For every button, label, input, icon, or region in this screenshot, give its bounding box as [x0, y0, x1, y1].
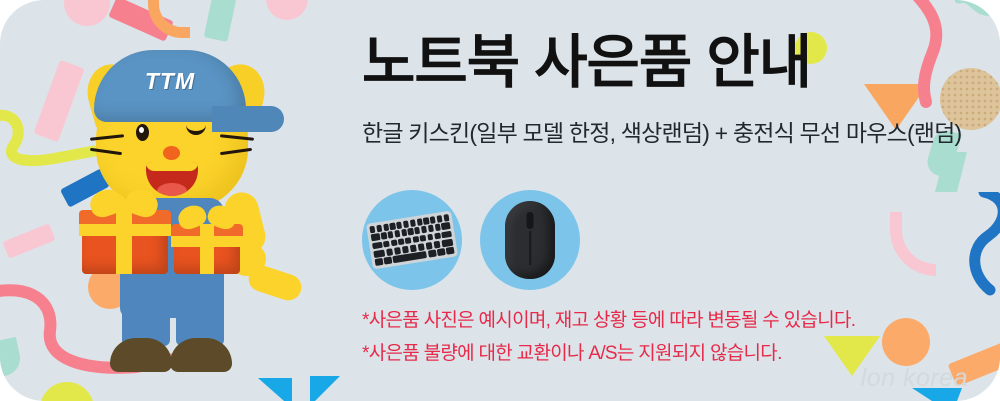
keyboard-key [402, 246, 409, 254]
keyboard-key [437, 248, 446, 256]
mouse-button-divider [529, 231, 531, 265]
wireless-mouse-circle [480, 190, 580, 290]
mascot-tail [245, 262, 304, 303]
keyboard-key [394, 247, 401, 255]
gift-ribbon-vertical-left [116, 210, 132, 274]
keyboard-key [434, 224, 440, 231]
keyboard-key [443, 214, 449, 221]
keyboard-key [390, 222, 396, 229]
keyboard-key [433, 241, 440, 249]
promo-banner: TTM 노트북 사은품 안 [0, 0, 1000, 401]
keyboard-key [418, 243, 425, 251]
keyboard-key [381, 232, 387, 239]
keyboard-key [412, 236, 419, 244]
blue-ribbon-right [926, 192, 1000, 312]
mascot-gift-left [82, 202, 168, 274]
keyboard-key [434, 232, 441, 240]
pink-rect-bottomleft [2, 223, 55, 258]
keyboard-key [396, 221, 402, 228]
mascot-eye-open [136, 124, 149, 141]
keyboard-key [390, 239, 397, 247]
keyboard-key [403, 220, 409, 227]
keyboard-key [388, 231, 394, 238]
keyboard-skin-icon [366, 211, 458, 270]
disclaimer-note-2: *사은품 불량에 대한 교환이나 A/S는 지원되지 않습니다. [362, 338, 855, 371]
keyboard-key [441, 222, 451, 230]
disclaimer-note-1: *사은품 사진은 예시이며, 재고 상황 등에 따라 변동될 수 있습니다. [362, 305, 855, 338]
mascot-shoe-right [170, 338, 232, 372]
keyboard-key [369, 226, 375, 233]
keyboard-key [441, 230, 452, 238]
watermark: lon korea [861, 364, 968, 393]
mascot-leg-right [176, 272, 224, 346]
keyboard-key [426, 242, 433, 250]
keyboard-key [410, 244, 417, 252]
page-subtitle: 한글 키스킨(일부 모델 한정, 색상랜덤) + 충전식 무선 마우스(랜덤) [362, 114, 977, 148]
keyboard-key [428, 250, 437, 258]
keyboard-key [427, 233, 434, 241]
keyboard-key [430, 216, 436, 223]
keyboard-key [383, 240, 390, 248]
mint-shape-bottomleft [0, 337, 23, 379]
keyboard-key [384, 257, 393, 265]
wireless-mouse-icon [505, 201, 555, 279]
keyboard-key [371, 233, 381, 241]
text-content: 노트북 사은품 안내 한글 키스킨(일부 모델 한정, 색상랜덤) + 충전식 … [362, 34, 977, 148]
mascot-leg-left [122, 272, 170, 346]
mascot-gift-right [174, 216, 240, 274]
mascot-tongue [157, 183, 187, 196]
keyboard-key [446, 247, 455, 255]
orange-circle-right [882, 318, 930, 366]
keyboard-key [436, 215, 442, 222]
keyboard-key [376, 225, 382, 232]
mascot-nose [163, 146, 180, 160]
page-title: 노트북 사은품 안내 [362, 34, 977, 92]
gift-ribbon-horizontal-left [79, 224, 171, 236]
keyboard-key [416, 218, 422, 225]
keyboard-key [405, 237, 412, 245]
keyboard-key [421, 226, 427, 233]
gift-ribbon-horizontal-right [171, 236, 243, 247]
keyboard-key [408, 228, 414, 235]
keyboard-key [386, 248, 393, 256]
mascot-cat: TTM [52, 20, 302, 390]
blue-triangle-bottom2 [310, 376, 340, 401]
gift-ribbon-vertical-right [200, 224, 214, 274]
pink-arc-right [890, 212, 936, 276]
keyboard-key [394, 230, 400, 237]
disclaimer-notes: *사은품 사진은 예시이며, 재고 상황 등에 따라 변동될 수 있습니다. *… [362, 305, 855, 370]
pink-circle-top2 [266, 0, 308, 20]
keyboard-key [428, 225, 434, 232]
keyboard-key [398, 238, 405, 246]
mascot-cap-text: TTM [94, 68, 246, 95]
mint-squiggle-subtitle [935, 152, 967, 192]
keyboard-key [373, 249, 385, 257]
keyboard-skin-circle [362, 190, 462, 290]
mascot-mouth-lip [146, 162, 198, 171]
keyboard-key [372, 241, 383, 249]
mascot-eye-glint [139, 127, 144, 133]
mascot-shoe-left [110, 338, 172, 372]
keyboard-key [420, 234, 427, 242]
keyboard-key [423, 217, 429, 224]
keyboard-key [441, 239, 453, 247]
keyboard-key [414, 227, 420, 234]
keyboard-key [410, 219, 416, 226]
mouse-scroll-wheel [527, 212, 534, 229]
keyboard-key [375, 258, 384, 266]
mascot-cap-brim [212, 106, 284, 132]
keyboard-key [383, 224, 389, 231]
product-images [362, 190, 580, 290]
keyboard-key [401, 229, 407, 236]
